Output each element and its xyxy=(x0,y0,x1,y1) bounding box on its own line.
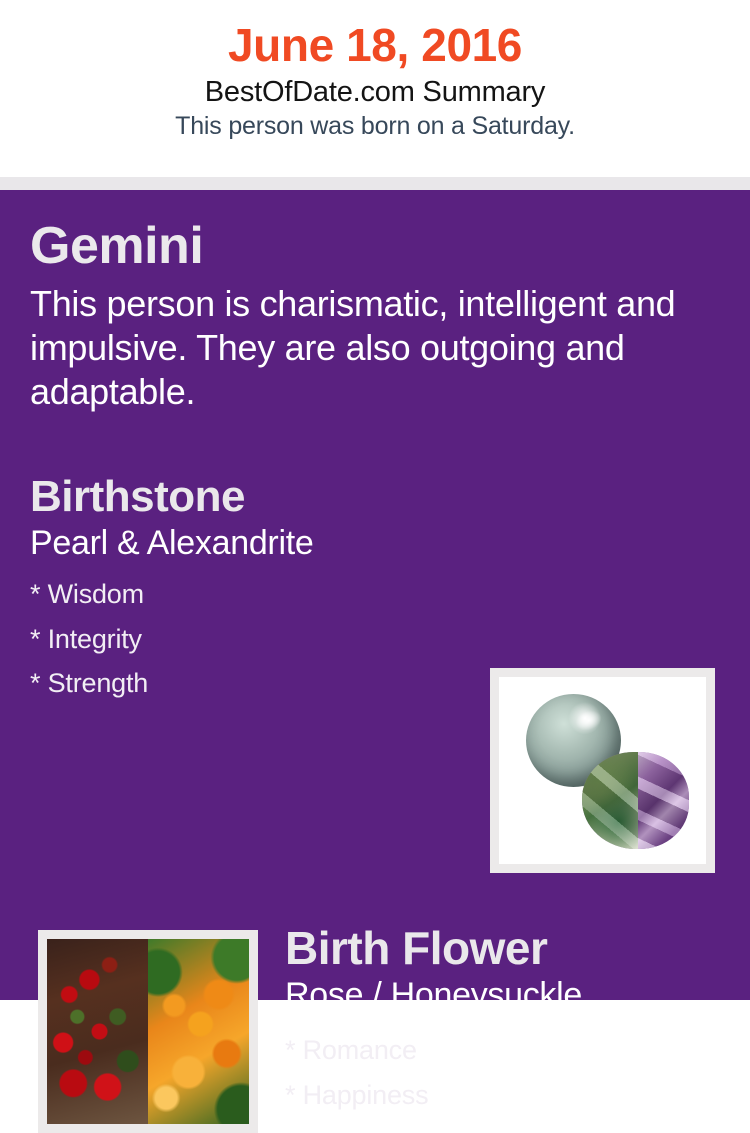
alexandrite-gem-shape xyxy=(582,752,690,849)
birthstone-image xyxy=(499,677,706,864)
honeysuckle-photo-half xyxy=(148,939,249,1124)
birthstone-value: Pearl & Alexandrite xyxy=(30,525,470,562)
birth-flower-trait-list: * Romance * Happiness xyxy=(285,1028,735,1117)
summary-panel: Gemini This person is charismatic, intel… xyxy=(0,190,750,1000)
birthstone-title: Birthstone xyxy=(30,475,470,519)
card-header: June 18, 2016 BestOfDate.com Summary Thi… xyxy=(0,0,750,177)
zodiac-description: This person is charismatic, intelligent … xyxy=(30,282,700,414)
birthstone-trait-list: * Wisdom * Integrity * Strength xyxy=(30,572,470,706)
page-title-date: June 18, 2016 xyxy=(0,22,750,69)
list-item: * Strength xyxy=(30,661,470,706)
list-item: * Integrity xyxy=(30,617,470,662)
birth-flower-section: Birth Flower Rose / Honeysuckle * Romanc… xyxy=(285,925,735,1117)
birth-flower-image-frame xyxy=(38,930,258,1133)
header-divider xyxy=(0,177,750,190)
list-item: * Happiness xyxy=(285,1073,735,1118)
zodiac-sign-name: Gemini xyxy=(30,220,720,272)
site-title: BestOfDate.com Summary xyxy=(0,77,750,107)
list-item: * Wisdom xyxy=(30,572,470,617)
alexandrite-green-half xyxy=(582,752,638,849)
birthstone-section: Birthstone Pearl & Alexandrite * Wisdom … xyxy=(30,475,470,706)
list-item: * Romance xyxy=(285,1028,735,1073)
birth-flower-image xyxy=(47,939,249,1124)
born-day-subtitle: This person was born on a Saturday. xyxy=(0,113,750,139)
date-summary-card: June 18, 2016 BestOfDate.com Summary Thi… xyxy=(0,0,750,1000)
birthstone-image-frame xyxy=(490,668,715,873)
birth-flower-value: Rose / Honeysuckle xyxy=(285,977,735,1014)
zodiac-section: Gemini This person is charismatic, intel… xyxy=(30,220,720,414)
alexandrite-purple-half xyxy=(638,752,690,849)
birth-flower-title: Birth Flower xyxy=(285,925,735,971)
rose-photo-half xyxy=(47,939,148,1124)
